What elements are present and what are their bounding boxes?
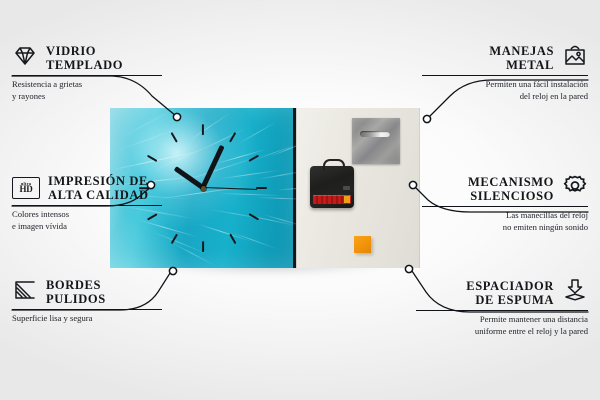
silent-clock-mechanism — [310, 166, 354, 208]
clock-tick — [229, 233, 236, 244]
feature-title: VIDRIO TEMPLADO — [46, 44, 123, 72]
battery-terminal — [344, 196, 350, 203]
clock-tick — [147, 155, 158, 162]
feature-manejas-metal: MANEJAS METAL Permiten una fácil instala… — [422, 44, 588, 102]
clock-hour-hand — [174, 166, 205, 190]
picture-hanger-icon — [562, 45, 588, 72]
feature-title: IMPRESIÓN DE ALTA CALIDAD — [48, 174, 149, 202]
mechanism-dial — [343, 186, 350, 190]
divider — [422, 75, 588, 76]
feature-mecanismo-silencioso: MECANISMO SILENCIOSO Las manecillas del … — [422, 174, 588, 233]
divider — [12, 75, 162, 76]
clock-tick — [248, 155, 259, 162]
foam-spacer-icon — [562, 278, 588, 307]
feature-espaciador-espuma: ESPACIADOR DE ESPUMA Permite mantener un… — [416, 278, 588, 337]
clock-tick — [202, 124, 204, 135]
clock-tick — [248, 214, 259, 221]
feature-title: BORDES PULIDOS — [46, 278, 106, 306]
feature-vidrio-templado: VIDRIO TEMPLADO Resistencia a grietas y … — [12, 44, 162, 102]
mechanism-hook — [323, 159, 345, 171]
feature-description: Superficie lisa y segura — [12, 313, 162, 325]
foam-spacer — [354, 236, 371, 253]
infographic-stage: VIDRIO TEMPLADO Resistencia a grietas y … — [0, 0, 600, 400]
marker-dot-bordes — [169, 267, 176, 274]
gear-icon — [562, 174, 588, 203]
feature-title: MECANISMO SILENCIOSO — [468, 175, 554, 203]
clock-tick — [256, 187, 267, 189]
hanger-slot — [360, 131, 390, 137]
polished-edges-icon — [12, 279, 38, 306]
marker-dot-manejas — [423, 115, 430, 122]
ultra-hd-icon: ultra HD — [12, 177, 40, 199]
clock-back-panel — [296, 108, 420, 268]
feature-bordes-pulidos: BORDES PULIDOS Superficie lisa y segura — [12, 278, 162, 325]
clock-center-pin — [201, 186, 206, 191]
feature-description: Las manecillas del reloj no emiten ningú… — [422, 210, 588, 233]
clock-tick — [170, 233, 177, 244]
feature-description: Colores intensos e imagen vívida — [12, 209, 162, 232]
feature-title: MANEJAS METAL — [489, 44, 554, 72]
feature-description: Permite mantener una distancia uniforme … — [416, 314, 588, 337]
divider — [12, 205, 162, 206]
clock-tick — [170, 132, 177, 143]
feature-title: ESPACIADOR DE ESPUMA — [466, 279, 554, 307]
clock-second-hand — [203, 187, 257, 190]
clock-tick — [229, 132, 236, 143]
clock-tick — [202, 241, 204, 252]
battery — [313, 195, 351, 204]
clock-minute-hand — [201, 145, 225, 189]
feature-description: Permiten una fácil instalación del reloj… — [422, 79, 588, 102]
divider — [422, 206, 588, 207]
divider — [12, 309, 162, 310]
feature-description: Resistencia a grietas y rayones — [12, 79, 162, 102]
divider — [416, 310, 588, 311]
metal-hanger-plate — [352, 118, 400, 164]
feature-impresion-alta-calidad: ultra HD IMPRESIÓN DE ALTA CALIDAD Color… — [12, 174, 162, 232]
diamond-icon — [12, 45, 38, 72]
